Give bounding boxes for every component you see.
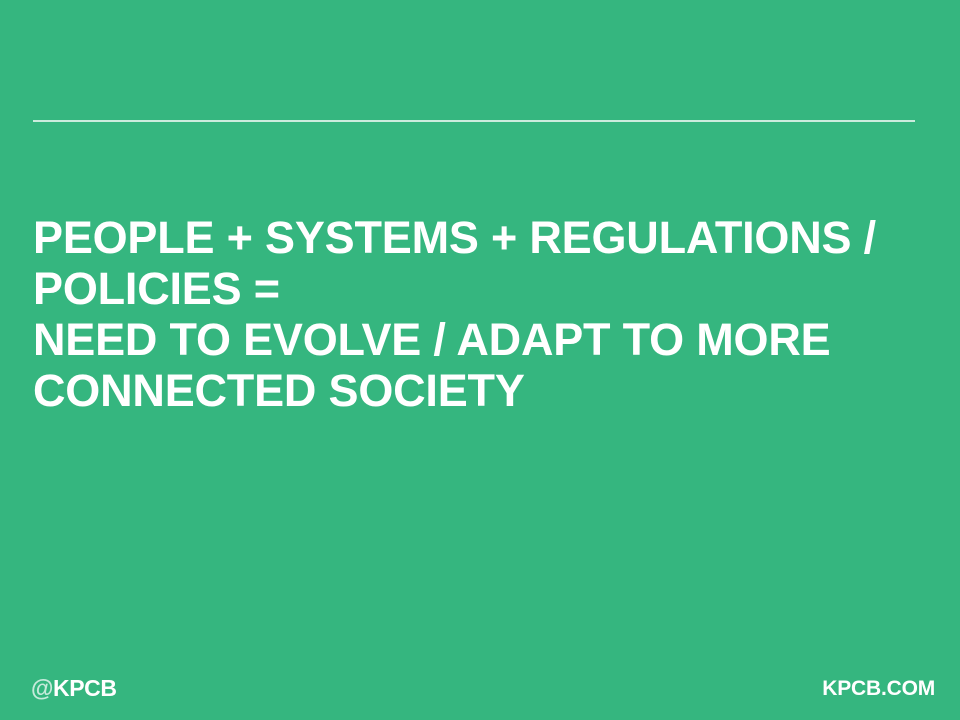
- header-divider-rule: [33, 120, 915, 122]
- headline-line-1: PEOPLE + SYSTEMS + REGULATIONS /: [33, 212, 913, 263]
- headline-line-3: NEED TO EVOLVE / ADAPT TO MORE: [33, 314, 913, 365]
- headline-line-2: POLICIES =: [33, 263, 913, 314]
- headline-line-4: CONNECTED SOCIETY: [33, 365, 913, 416]
- footer-website: KPCB.COM: [822, 678, 935, 699]
- at-sign-icon: @: [31, 675, 53, 701]
- footer-handle-label: KPCB: [53, 675, 117, 701]
- slide-headline: PEOPLE + SYSTEMS + REGULATIONS / POLICIE…: [33, 212, 913, 416]
- footer-social-handle: @KPCB: [31, 677, 117, 700]
- slide-canvas: PEOPLE + SYSTEMS + REGULATIONS / POLICIE…: [0, 0, 960, 720]
